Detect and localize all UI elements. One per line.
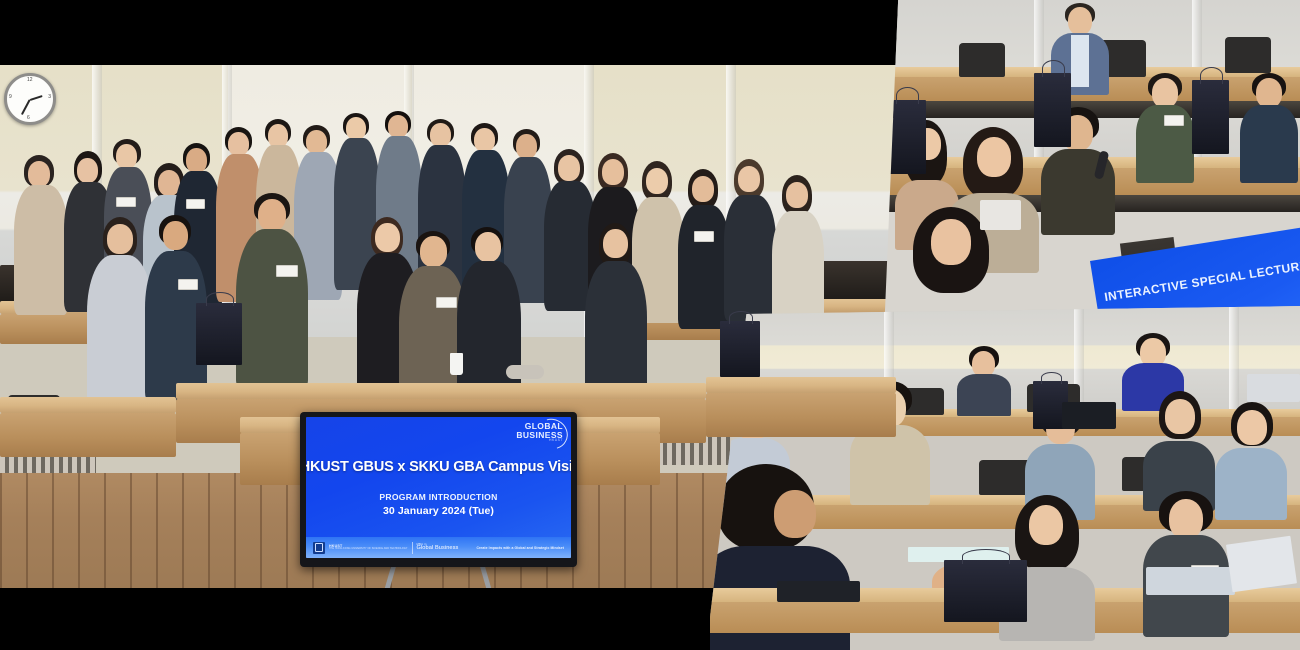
gift-bag [1192,80,1229,153]
brochure [1146,567,1235,595]
slide-footer: HKUST THE HONG KONG UNIVERSITY OF SCIENC… [306,537,571,558]
side-desk-face [706,393,896,437]
global-business-logo: GLOBAL BUSINESS HKUST [516,422,563,443]
side-desk-top [0,397,176,413]
side-desk-face [0,413,176,457]
letterbox-bottom-left [0,588,710,650]
paper-cup [980,200,1022,230]
laptop [1247,374,1300,402]
group-discussion-photo [706,305,1300,650]
side-desk-top [706,377,896,393]
program-wordmark: MBA in Global Business [417,543,459,552]
gift-bag [1034,73,1071,146]
monitor-stand [382,566,494,588]
slide-date: 30 January 2024 (Tue) [383,505,494,517]
brochure [777,581,860,602]
program-name: Global Business [417,546,459,552]
tablet [1062,402,1115,430]
footer-logos: HKUST THE HONG KONG UNIVERSITY OF SCIENC… [313,542,458,554]
clock-tick: 3 [48,94,51,100]
clock-tick: 9 [9,94,12,100]
chair [959,43,1005,76]
presentation-slide: GLOBAL BUSINESS HKUST HKUST GBUS x SKKU … [306,417,571,558]
wall-clock-icon: 12 3 6 9 [4,73,56,125]
clock-tick: 12 [27,77,33,83]
footer-divider [412,542,413,554]
slide-title: HKUST GBUS x SKKU GBA Campus Visit [306,459,571,475]
gift-bag [888,100,925,173]
hkust-crest-icon [313,542,325,554]
chair [1225,37,1271,74]
presentation-monitor: GLOBAL BUSINESS HKUST HKUST GBUS x SKKU … [300,412,577,567]
logo-line-3: HKUST [516,439,563,442]
letterbox-top-left [0,0,884,65]
hkust-wordmark: HKUST THE HONG KONG UNIVERSITY OF SCIENC… [329,545,408,551]
collage-canvas: 12 3 6 9 [0,0,1300,650]
projection-title: INTERACTIVE SPECIAL LECTURE [1103,258,1300,304]
clock-tick: 6 [27,115,30,121]
gift-bag [944,560,1027,622]
gift-bag [720,321,760,377]
interactive-lecture-photo: INTERACTIVE SPECIAL LECTURE ON YOU [884,0,1300,334]
shoes [506,365,544,379]
hkust-fullname: THE HONG KONG UNIVERSITY OF SCIENCE AND … [329,548,408,550]
front-desk-top [176,383,706,399]
gift-bag [196,303,242,365]
paper-cup [450,353,463,375]
slide-tagline: Create Impacts with a Global and Strateg… [476,546,564,550]
wall-seam [1229,305,1239,415]
brochure [1226,535,1297,592]
slide-subtitle: PROGRAM INTRODUCTION [379,492,497,502]
